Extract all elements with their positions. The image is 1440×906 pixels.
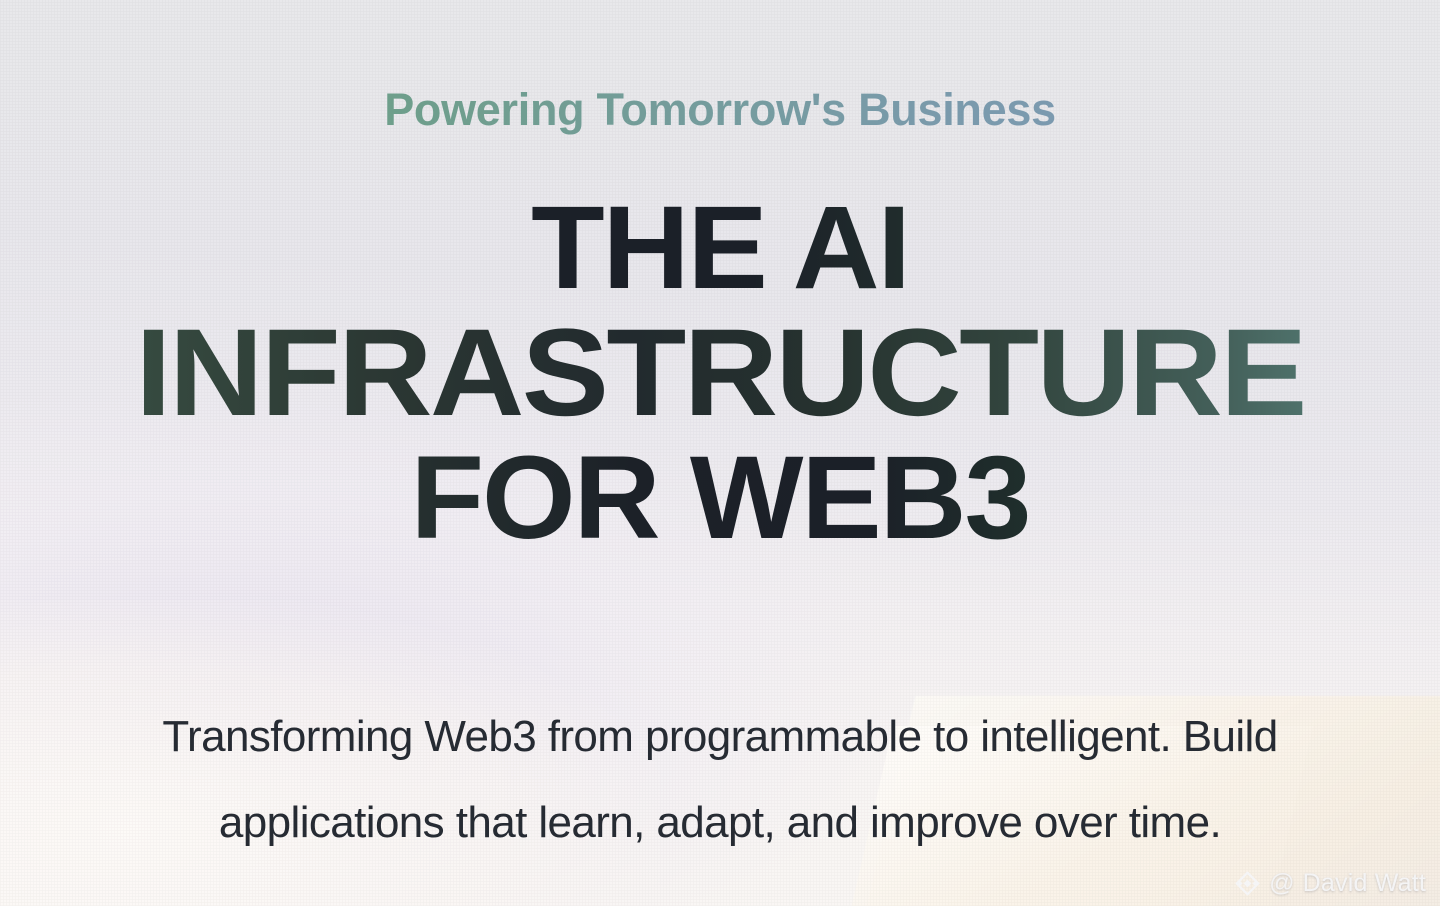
watermark-at-symbol: @ bbox=[1269, 869, 1295, 898]
watermark: @ David Watt bbox=[1234, 869, 1426, 898]
watermark-username: David Watt bbox=[1303, 869, 1426, 898]
diamond-logo-icon bbox=[1234, 870, 1261, 897]
hero-eyebrow: Powering Tomorrow's Business bbox=[0, 83, 1440, 136]
hero-section: Powering Tomorrow's Business THE AI INFR… bbox=[0, 0, 1440, 906]
hero-headline: THE AI INFRASTRUCTURE FOR WEB3 bbox=[0, 186, 1440, 561]
headline-line-3: FOR WEB3 bbox=[0, 436, 1440, 561]
headline-line-2: INFRASTRUCTURE bbox=[0, 311, 1440, 436]
hero-content: Powering Tomorrow's Business THE AI INFR… bbox=[0, 0, 1440, 906]
headline-line-1: THE AI bbox=[0, 186, 1440, 311]
hero-subcopy: Transforming Web3 from programmable to i… bbox=[85, 694, 1355, 866]
